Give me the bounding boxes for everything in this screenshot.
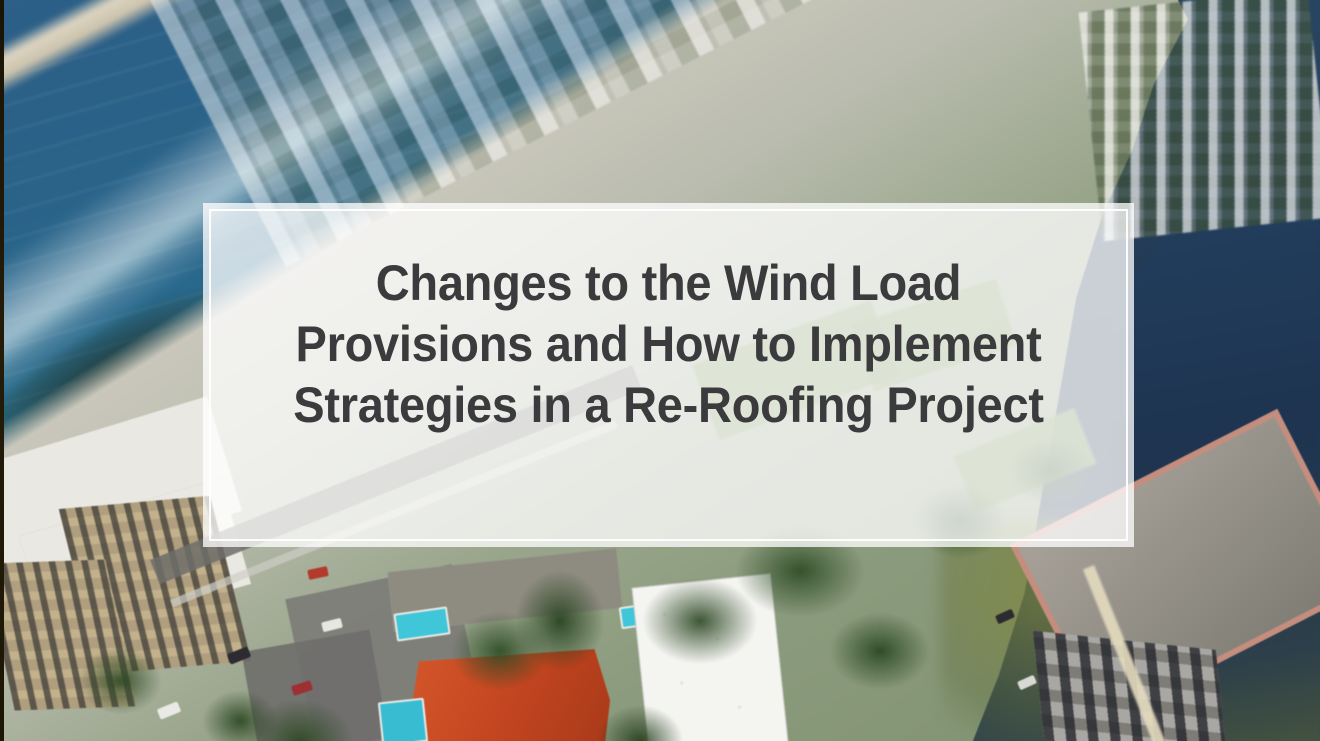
title-slide: Changes to the Wind Load Provisions and … bbox=[0, 0, 1320, 741]
page-title: Changes to the Wind Load Provisions and … bbox=[263, 253, 1074, 436]
frame-left-edge bbox=[0, 0, 4, 741]
title-overlay-card: Changes to the Wind Load Provisions and … bbox=[203, 203, 1134, 547]
